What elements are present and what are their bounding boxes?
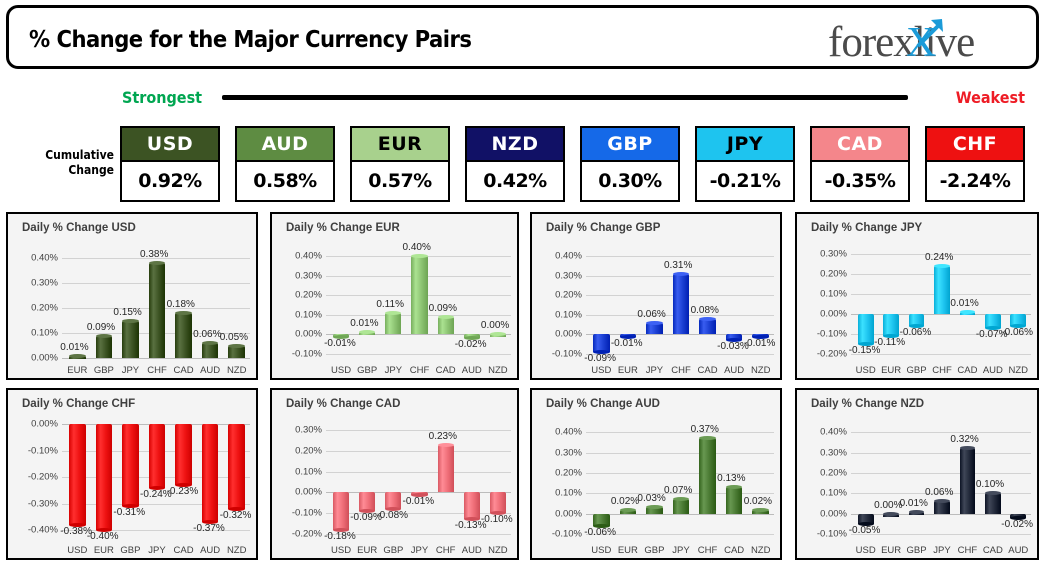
data-label-usd-nzd: 0.05% (220, 332, 248, 343)
bar-cap (646, 505, 662, 509)
cumulative-value-eur: 0.57% (350, 162, 450, 202)
bar-cap (752, 508, 768, 512)
bar-eur-usd (333, 334, 349, 337)
data-label-usd-aud: 0.06% (193, 329, 221, 340)
bar-nzd-jpy (934, 501, 950, 513)
chart-title-gbp: Daily % Change GBP (546, 222, 660, 234)
currency-column-gbp: GBP0.30% (580, 126, 680, 202)
cumulative-value-usd: 0.92% (120, 162, 220, 202)
bar-cap (202, 341, 218, 345)
y-axis-tick: 0.40% (276, 251, 322, 260)
gridline (62, 358, 250, 359)
plot-area-gbp: -0.10%0.00%0.10%0.20%0.30%0.40%-0.09%USD… (532, 238, 780, 378)
data-label-cad-nzd: -0.10% (481, 514, 513, 525)
chart-panel-gbp: Daily % Change GBP-0.10%0.00%0.10%0.20%0… (530, 212, 782, 380)
x-axis-label-jpy: JPY (641, 365, 668, 376)
x-axis-label-cad: CAD (170, 545, 197, 556)
data-label-nzd-eur: 0.00% (874, 500, 902, 511)
bar-chf-eur (96, 424, 112, 530)
y-axis-tick: 0.00% (536, 509, 582, 518)
data-label-nzd-chf: 0.32% (950, 434, 978, 445)
bar-jpy-gbp (909, 314, 925, 326)
title-bar: % Change for the Major Currency Pairs fo… (6, 5, 1039, 69)
chart-panel-chf: Daily % Change CHF-0.40%-0.30%-0.20%-0.1… (6, 388, 258, 560)
bar-chf-nzd (228, 424, 244, 509)
cumulative-label-line1: Cumulative (45, 148, 114, 162)
data-label-jpy-cad: 0.01% (950, 298, 978, 309)
currency-code-cad: CAD (810, 126, 910, 162)
data-label-chf-gbp: -0.31% (113, 507, 145, 518)
x-axis-label-chf: CHF (955, 545, 980, 556)
y-axis-tick: 0.20% (536, 468, 582, 477)
x-axis-label-cad: CAD (433, 365, 459, 376)
y-axis-tick: 0.30% (536, 448, 582, 457)
currency-column-jpy: JPY-0.21% (695, 126, 795, 202)
bar-gbp-nzd (752, 334, 768, 337)
bar-gbp-usd (593, 334, 609, 352)
y-axis-tick: 0.00% (801, 310, 847, 319)
y-axis-tick: -0.10% (801, 330, 847, 339)
bar-cad-usd (333, 492, 349, 529)
cumulative-value-jpy: -0.21% (695, 162, 795, 202)
x-axis-label-cad: CAD (694, 365, 721, 376)
x-axis-label-aud: AUD (1006, 545, 1031, 556)
data-label-eur-cad: 0.09% (429, 303, 457, 314)
bar-chf-aud (202, 424, 218, 522)
bar-cap (726, 485, 742, 489)
x-axis-label-chf: CHF (144, 365, 171, 376)
bar-cap (699, 317, 715, 321)
gridline (851, 432, 1031, 433)
y-axis-tick: 0.00% (12, 354, 58, 363)
bar-cap (359, 330, 375, 334)
data-label-aud-eur: 0.02% (611, 496, 639, 507)
currency-code-nzd: NZD (465, 126, 565, 162)
strongest-label: Strongest (122, 88, 202, 107)
data-label-usd-gbp: 0.09% (87, 322, 115, 333)
bar-aud-usd (593, 514, 609, 526)
bar-usd-eur (69, 356, 85, 359)
y-axis-tick: 0.20% (276, 291, 322, 300)
chart-title-cad: Daily % Change CAD (286, 398, 400, 410)
currency-code-usd: USD (120, 126, 220, 162)
chart-panel-eur: Daily % Change EUR-0.10%0.00%0.10%0.20%0… (270, 212, 519, 380)
cumulative-value-gbp: 0.30% (580, 162, 680, 202)
bar-cap (149, 261, 165, 265)
y-axis-tick: -0.10% (12, 446, 58, 455)
bar-cap (673, 272, 689, 276)
x-axis-label-cad: CAD (980, 545, 1005, 556)
gridline (851, 314, 1031, 315)
x-axis-label-chf: CHF (929, 365, 954, 376)
bar-gbp-cad (699, 319, 715, 335)
bar-cap (673, 497, 689, 501)
currency-column-aud: AUD0.58% (235, 126, 335, 202)
gridline (851, 514, 1031, 515)
cumulative-value-aud: 0.58% (235, 162, 335, 202)
x-axis-label-aud: AUD (197, 365, 224, 376)
y-axis-tick: -0.10% (536, 529, 582, 538)
y-axis-tick: 0.00% (276, 488, 322, 497)
logo-wordmark: forexlive (828, 18, 974, 67)
currency-code-gbp: GBP (580, 126, 680, 162)
data-label-eur-gbp: 0.01% (350, 318, 378, 329)
currency-column-usd: USD0.92% (120, 126, 220, 202)
chart-title-jpy: Daily % Change JPY (811, 222, 922, 234)
y-axis-tick: 0.30% (276, 271, 322, 280)
y-axis-tick: 0.00% (276, 330, 322, 339)
data-label-nzd-aud: -0.02% (1001, 519, 1033, 530)
bar-cad-aud (464, 492, 480, 519)
y-axis-tick: -0.40% (12, 526, 58, 535)
bar-cap (960, 446, 976, 450)
data-label-cad-jpy: -0.01% (403, 496, 435, 507)
plot-area-cad: -0.20%-0.10%0.00%0.10%0.20%0.30%-0.18%US… (272, 414, 517, 558)
bar-gbp-chf (673, 274, 689, 335)
bar-chf-jpy (149, 424, 165, 488)
bar-eur-nzd (490, 334, 506, 337)
bar-nzd-aud (1010, 514, 1026, 518)
page-title: % Change for the Major Currency Pairs (29, 27, 471, 53)
y-axis-tick: 0.00% (801, 509, 847, 518)
y-axis-tick: 0.40% (801, 428, 847, 437)
data-label-jpy-nzd: -0.06% (1001, 327, 1033, 338)
bar-cap (934, 264, 950, 268)
bar-cap (96, 334, 112, 338)
y-axis-tick: -0.10% (801, 529, 847, 538)
x-axis-label-eur: EUR (615, 545, 642, 556)
data-label-jpy-chf: 0.24% (925, 252, 953, 263)
gridline (586, 334, 774, 335)
y-axis-tick: -0.20% (276, 529, 322, 538)
y-axis-tick: 0.40% (536, 251, 582, 260)
x-axis-label-jpy: JPY (406, 545, 432, 556)
x-axis-label-gbp: GBP (641, 545, 668, 556)
x-axis-label-nzd: NZD (747, 545, 774, 556)
bar-cad-eur (359, 492, 375, 511)
weakest-label: Weakest (956, 88, 1025, 107)
bar-cap (883, 512, 899, 516)
bar-cap (985, 491, 1001, 495)
y-axis-tick: -0.10% (276, 509, 322, 518)
bar-jpy-aud (985, 314, 1001, 328)
bar-cap (620, 508, 636, 512)
y-axis-tick: 0.10% (801, 489, 847, 498)
gridline (586, 432, 774, 433)
y-axis-tick: -0.10% (276, 350, 322, 359)
gridline (326, 472, 511, 473)
y-axis-tick: 0.20% (801, 270, 847, 279)
data-label-aud-jpy: 0.07% (664, 485, 692, 496)
bar-cap (69, 354, 85, 358)
x-axis-label-jpy: JPY (668, 545, 695, 556)
y-axis-tick: 0.20% (801, 468, 847, 477)
y-axis-tick: 0.00% (12, 420, 58, 429)
data-label-gbp-chf: 0.31% (664, 260, 692, 271)
cumulative-value-chf: -2.24% (925, 162, 1025, 202)
gridline (586, 514, 774, 515)
x-axis-label-jpy: JPY (117, 365, 144, 376)
x-axis-label-chf: CHF (668, 365, 695, 376)
x-axis-label-nzd: NZD (223, 365, 250, 376)
y-axis-tick: 0.20% (276, 446, 322, 455)
bar-cap (122, 319, 138, 323)
bar-usd-aud (202, 343, 218, 358)
y-axis-tick: -0.10% (536, 350, 582, 359)
bar-cad-nzd (490, 492, 506, 513)
bar-cad-chf (438, 445, 454, 493)
chart-panel-jpy: Daily % Change JPY-0.20%-0.10%0.00%0.10%… (795, 212, 1039, 380)
x-axis-label-jpy: JPY (929, 545, 954, 556)
x-axis-label-aud: AUD (197, 545, 224, 556)
gridline (326, 334, 511, 335)
gridline (326, 430, 511, 431)
chart-panel-nzd: Daily % Change NZD-0.10%0.00%0.10%0.20%0… (795, 388, 1039, 560)
bar-nzd-eur (883, 514, 899, 517)
x-axis-label-jpy: JPY (380, 365, 406, 376)
x-axis-label-usd: USD (328, 365, 354, 376)
bar-nzd-usd (858, 514, 874, 524)
bar-nzd-chf (960, 448, 976, 513)
gridline (326, 451, 511, 452)
chart-panel-cad: Daily % Change CAD-0.20%-0.10%0.00%0.10%… (270, 388, 519, 560)
data-label-gbp-nzd: -0.01% (744, 338, 776, 349)
bar-cad-gbp (385, 492, 401, 509)
x-axis-label-eur: EUR (64, 365, 91, 376)
x-axis-label-aud: AUD (459, 365, 485, 376)
x-axis-label-gbp: GBP (117, 545, 144, 556)
data-label-aud-gbp: 0.03% (637, 493, 665, 504)
x-axis-label-eur: EUR (878, 545, 903, 556)
data-label-gbp-cad: 0.08% (691, 305, 719, 316)
gridline (851, 453, 1031, 454)
bar-eur-cad (438, 317, 454, 335)
data-label-cad-usd: -0.18% (324, 531, 356, 542)
bar-aud-cad (726, 487, 742, 513)
bar-usd-jpy (122, 321, 138, 359)
y-axis-tick: -0.30% (12, 499, 58, 508)
data-label-usd-eur: 0.01% (60, 342, 88, 353)
data-label-cad-gbp: -0.08% (376, 510, 408, 521)
strength-strip: Strongest Weakest (0, 86, 1045, 112)
data-label-usd-cad: 0.18% (167, 299, 195, 310)
bar-aud-eur (620, 510, 636, 514)
bar-cap (646, 321, 662, 325)
data-label-eur-nzd: 0.00% (481, 320, 509, 331)
data-label-aud-cad: 0.13% (717, 473, 745, 484)
x-axis-label-chf: CHF (433, 545, 459, 556)
data-label-eur-usd: -0.01% (324, 338, 356, 349)
bar-cap (228, 344, 244, 348)
gridline (326, 354, 511, 355)
cumulative-value-nzd: 0.42% (465, 162, 565, 202)
bar-usd-gbp (96, 336, 112, 359)
plot-area-eur: -0.10%0.00%0.10%0.20%0.30%0.40%-0.01%USD… (272, 238, 517, 378)
chart-title-eur: Daily % Change EUR (286, 222, 400, 234)
x-axis-label-gbp: GBP (380, 545, 406, 556)
x-axis-label-aud: AUD (980, 365, 1005, 376)
bar-chf-usd (69, 424, 85, 525)
data-label-nzd-gbp: 0.01% (900, 498, 928, 509)
cumulative-change-label: Cumulative Change (15, 148, 114, 178)
y-axis-tick: 0.10% (536, 310, 582, 319)
gridline (586, 453, 774, 454)
x-axis-label-nzd: NZD (223, 545, 250, 556)
bar-cap (960, 310, 976, 314)
data-label-eur-aud: -0.02% (455, 339, 487, 350)
bar-usd-cad (175, 313, 191, 358)
x-axis-label-usd: USD (853, 545, 878, 556)
bar-chf-gbp (122, 424, 138, 506)
bar-jpy-cad (960, 312, 976, 315)
up-right-arrow-icon (914, 16, 948, 50)
currency-column-eur: EUR0.57% (350, 126, 450, 202)
bar-chf-cad (175, 424, 191, 485)
bar-cap (411, 254, 427, 258)
x-axis-label-usd: USD (853, 365, 878, 376)
bar-gbp-eur (620, 334, 636, 337)
data-label-chf-nzd: -0.32% (220, 510, 252, 521)
data-label-gbp-usd: -0.09% (584, 353, 616, 364)
x-axis-label-cad: CAD (955, 365, 980, 376)
x-axis-label-usd: USD (588, 365, 615, 376)
x-axis-label-gbp: GBP (904, 365, 929, 376)
bar-jpy-eur (883, 314, 899, 336)
currency-code-aud: AUD (235, 126, 335, 162)
bar-nzd-gbp (909, 512, 925, 515)
y-axis-tick: 0.20% (536, 291, 582, 300)
x-axis-label-usd: USD (588, 545, 615, 556)
x-axis-label-eur: EUR (354, 545, 380, 556)
bar-usd-nzd (228, 346, 244, 359)
chart-panel-usd: Daily % Change USD0.00%0.10%0.20%0.30%0.… (6, 212, 258, 380)
x-axis-label-eur: EUR (91, 545, 118, 556)
x-axis-label-cad: CAD (170, 365, 197, 376)
bar-cap (490, 332, 506, 336)
x-axis-label-usd: USD (64, 545, 91, 556)
x-axis-label-aud: AUD (721, 365, 748, 376)
x-axis-label-usd: USD (328, 545, 354, 556)
bar-nzd-cad (985, 493, 1001, 513)
forexlive-logo[interactable]: forexlive X (828, 16, 1018, 66)
x-axis-label-cad: CAD (721, 545, 748, 556)
bar-usd-chf (149, 263, 165, 358)
plot-area-chf: -0.40%-0.30%-0.20%-0.10%0.00%-0.38%USD-0… (8, 414, 256, 558)
data-label-jpy-eur: -0.11% (874, 337, 905, 348)
data-label-aud-nzd: 0.02% (744, 496, 772, 507)
cumulative-label-line2: Change (68, 163, 114, 177)
gridline (62, 504, 250, 505)
chart-title-nzd: Daily % Change NZD (811, 398, 924, 410)
currency-code-jpy: JPY (695, 126, 795, 162)
bar-eur-aud (464, 334, 480, 338)
chart-title-usd: Daily % Change USD (22, 222, 136, 234)
currency-column-cad: CAD-0.35% (810, 126, 910, 202)
x-axis-label-gbp: GBP (354, 365, 380, 376)
data-label-nzd-cad: 0.10% (976, 479, 1004, 490)
x-axis-label-chf: CHF (694, 545, 721, 556)
x-axis-label-chf: CHF (406, 365, 432, 376)
bar-jpy-chf (934, 266, 950, 314)
y-axis-tick: 0.30% (12, 279, 58, 288)
currency-code-chf: CHF (925, 126, 1025, 162)
bar-cap (385, 311, 401, 315)
y-axis-tick: 0.30% (276, 426, 322, 435)
bar-aud-gbp (646, 507, 662, 513)
bar-cap (909, 510, 925, 514)
strength-axis-line (222, 95, 908, 100)
bar-cap (438, 315, 454, 319)
y-axis-tick: 0.00% (536, 330, 582, 339)
x-axis-label-eur: EUR (615, 365, 642, 376)
y-axis-tick: 0.20% (12, 304, 58, 313)
data-label-usd-jpy: 0.15% (113, 307, 141, 318)
x-axis-label-aud: AUD (459, 545, 485, 556)
x-axis-label-nzd: NZD (1006, 365, 1031, 376)
y-axis-tick: 0.30% (801, 250, 847, 259)
y-axis-tick: 0.30% (801, 448, 847, 457)
x-axis-label-nzd: NZD (485, 365, 511, 376)
data-label-gbp-jpy: 0.06% (637, 309, 665, 320)
y-axis-tick: 0.10% (801, 290, 847, 299)
bar-gbp-aud (726, 334, 742, 340)
x-axis-label-eur: EUR (878, 365, 903, 376)
data-label-cad-chf: 0.23% (429, 431, 457, 442)
data-label-jpy-gbp: -0.06% (900, 327, 932, 338)
cumulative-value-cad: -0.35% (810, 162, 910, 202)
bar-aud-chf (699, 438, 715, 513)
bar-cap (175, 311, 191, 315)
data-label-usd-chf: 0.38% (140, 249, 168, 260)
cumulative-change-row: Cumulative Change USD0.92%AUD0.58%EUR0.5… (0, 124, 1045, 204)
data-label-nzd-jpy: 0.06% (925, 487, 953, 498)
chart-title-aud: Daily % Change AUD (546, 398, 660, 410)
y-axis-tick: 0.10% (276, 467, 322, 476)
y-axis-tick: -0.20% (801, 350, 847, 359)
data-label-eur-jpy: 0.11% (376, 299, 404, 310)
plot-area-aud: -0.10%0.00%0.10%0.20%0.30%0.40%-0.06%USD… (532, 414, 780, 558)
chart-title-chf: Daily % Change CHF (22, 398, 135, 410)
y-axis-tick: 0.10% (12, 329, 58, 338)
x-axis-label-gbp: GBP (904, 545, 929, 556)
y-axis-tick: 0.30% (536, 271, 582, 280)
bar-aud-nzd (752, 510, 768, 514)
data-label-chf-eur: -0.40% (87, 531, 119, 542)
bar-cap (438, 443, 454, 447)
y-axis-tick: 0.40% (12, 254, 58, 263)
x-axis-label-jpy: JPY (144, 545, 171, 556)
data-label-nzd-usd: -0.05% (849, 525, 881, 536)
currency-column-nzd: NZD0.42% (465, 126, 565, 202)
data-label-aud-chf: 0.37% (691, 424, 719, 435)
y-axis-tick: 0.40% (536, 428, 582, 437)
bar-jpy-nzd (1010, 314, 1026, 326)
x-axis-label-nzd: NZD (485, 545, 511, 556)
x-axis-label-gbp: GBP (91, 365, 118, 376)
gridline (851, 473, 1031, 474)
bar-eur-gbp (359, 332, 375, 335)
bar-eur-chf (411, 256, 427, 335)
bar-cad-jpy (411, 492, 427, 495)
data-label-chf-cad: -0.23% (167, 486, 199, 497)
y-axis-tick: 0.10% (276, 310, 322, 319)
currency-column-chf: CHF-2.24% (925, 126, 1025, 202)
data-label-aud-usd: -0.06% (584, 527, 616, 538)
data-label-gbp-eur: -0.01% (611, 338, 643, 349)
bar-gbp-jpy (646, 323, 662, 335)
x-axis-label-nzd: NZD (747, 365, 774, 376)
plot-area-nzd: -0.10%0.00%0.10%0.20%0.30%0.40%-0.05%USD… (797, 414, 1037, 558)
